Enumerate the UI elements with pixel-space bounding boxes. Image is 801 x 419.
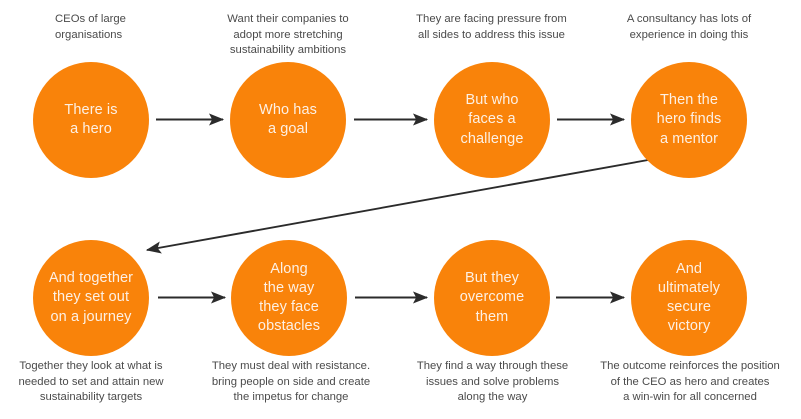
node-victory[interactable]: Andultimatelysecurevictory [631,240,747,356]
caption-hero: CEOs of largeorganisations [55,12,215,43]
node-goal-label: Who hasa goal [253,101,323,139]
caption-challenge: They are facing pressure fromall sides t… [410,12,573,43]
node-mentor-label: Then thehero findsa mentor [651,91,728,148]
node-victory-label: Andultimatelysecurevictory [652,260,726,337]
node-overcome-label: But theyovercomethem [454,269,530,326]
node-goal[interactable]: Who hasa goal [230,62,346,178]
node-journey[interactable]: And togetherthey set outon a journey [33,240,149,356]
node-obstacles-label: Alongthe waythey faceobstacles [252,260,326,337]
caption-obstacles: They must deal with resistance.bring peo… [207,359,375,406]
node-challenge-label: But whofaces achallenge [455,91,530,148]
caption-goal: Want their companies toadopt more stretc… [217,12,359,59]
arrow-mentor-to-journey [147,160,648,250]
node-mentor[interactable]: Then thehero findsa mentor [631,62,747,178]
node-challenge[interactable]: But whofaces achallenge [434,62,550,178]
caption-mentor: A consultancy has lots ofexperience in d… [615,12,763,43]
node-hero[interactable]: There isa hero [33,62,149,178]
caption-journey: Together they look at what isneeded to s… [11,359,171,406]
caption-overcome: They find a way through theseissues and … [410,359,575,406]
node-obstacles[interactable]: Alongthe waythey faceobstacles [231,240,347,356]
node-hero-label: There isa hero [58,101,123,139]
node-overcome[interactable]: But theyovercomethem [434,240,550,356]
caption-victory: The outcome reinforces the positionof th… [597,359,783,406]
hero-journey-diagram: There isa hero Who hasa goal But whoface… [0,0,801,419]
node-journey-label: And togetherthey set outon a journey [43,269,139,326]
